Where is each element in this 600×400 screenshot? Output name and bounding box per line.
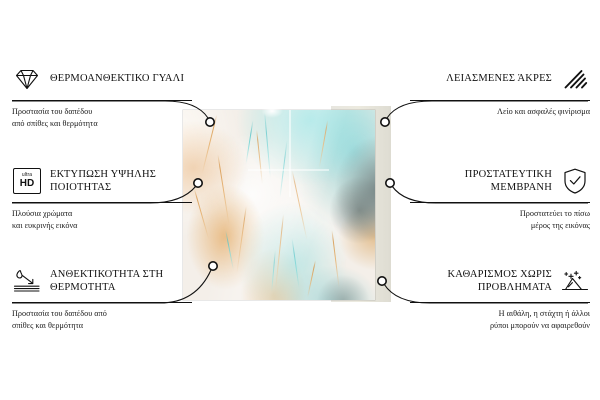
feature-divider (410, 100, 590, 101)
product-glass-panel (183, 110, 375, 300)
feature-divider (12, 202, 192, 203)
feature-description: Προστατεύει το πίσω μέρος της εικόνας (410, 208, 590, 231)
feature-block-polished-edges: ΛΕΙΑΣΜΕΝΕΣ ΆΚΡΕΣ Λείο και ασφαλές φινίρι… (410, 62, 590, 118)
ultra-hd-badge-main-label: HD (20, 179, 34, 189)
feature-title: ΠΡΟΣΤΑΤΕΥΤΙΚΗ ΜΕΜΒΡΑΝΗ (410, 168, 552, 195)
polished-edges-icon (560, 64, 590, 94)
feature-title: ΑΝΘΕΚΤΙΚΟΤΗΤΑ ΣΤΗ ΘΕΡΜΟΤΗΤΑ (50, 268, 192, 295)
ink-layer-slate (183, 110, 375, 300)
feature-block-heat-resistant-glass: ΘΕΡΜΟΑΝΘΕΚΤΙΚΟ ΓΥΑΛΙ Προστασία του δαπέδ… (12, 62, 192, 129)
heat-resistance-icon (12, 266, 42, 296)
feature-block-protective-membrane: ΠΡΟΣΤΑΤΕΥΤΙΚΗ ΜΕΜΒΡΑΝΗ Προστατεύει το πί… (410, 164, 590, 231)
feature-header: ΠΡΟΣΤΑΤΕΥΤΙΚΗ ΜΕΜΒΡΑΝΗ (410, 164, 590, 198)
feature-block-high-quality-print: ultra HD ΕΚΤΥΠΩΣΗ ΥΨΗΛΗΣ ΠΟΙΟΤΗΤΑΣ Πλούσ… (12, 164, 192, 231)
feature-description: Προστασία του δαπέδου από σπίθες και θερ… (12, 106, 192, 129)
feature-description: Προστασία του δαπέδου από σπίθες και θερ… (12, 308, 192, 331)
feature-header: ultra HD ΕΚΤΥΠΩΣΗ ΥΨΗΛΗΣ ΠΟΙΟΤΗΤΑΣ (12, 164, 192, 198)
feature-header: ΛΕΙΑΣΜΕΝΕΣ ΆΚΡΕΣ (410, 62, 590, 96)
feature-description: Η αιθάλη, η στάχτη ή άλλοι ρύποι μπορούν… (410, 308, 590, 331)
feature-header: ΘΕΡΜΟΑΝΘΕΚΤΙΚΟ ΓΥΑΛΙ (12, 62, 192, 96)
ultra-hd-badge-icon: ultra HD (12, 166, 42, 196)
feature-divider (410, 202, 590, 203)
shield-check-icon (560, 166, 590, 196)
infographic-root: ΘΕΡΜΟΑΝΘΕΚΤΙΚΟ ΓΥΑΛΙ Προστασία του δαπέδ… (0, 0, 600, 400)
feature-divider (12, 302, 192, 303)
feature-block-heat-durability: ΑΝΘΕΚΤΙΚΟΤΗΤΑ ΣΤΗ ΘΕΡΜΟΤΗΤΑ Προστασία το… (12, 264, 192, 331)
feature-divider (12, 100, 192, 101)
diamond-icon (12, 64, 42, 94)
easy-clean-icon (560, 266, 590, 296)
feature-description: Πλούσια χρώματα και ευκρινής εικόνα (12, 208, 192, 231)
product-image (183, 110, 383, 300)
feature-block-easy-cleaning: ΚΑΘΑΡΙΣΜΟΣ ΧΩΡΙΣ ΠΡΟΒΛΗΜΑΤΑ Η αιθάλη, η … (410, 264, 590, 331)
feature-description: Λείο και ασφαλές φινίρισμα (410, 106, 590, 118)
feature-header: ΚΑΘΑΡΙΣΜΟΣ ΧΩΡΙΣ ΠΡΟΒΛΗΜΑΤΑ (410, 264, 590, 298)
feature-title: ΛΕΙΑΣΜΕΝΕΣ ΆΚΡΕΣ (446, 72, 552, 85)
feature-header: ΑΝΘΕΚΤΙΚΟΤΗΤΑ ΣΤΗ ΘΕΡΜΟΤΗΤΑ (12, 264, 192, 298)
feature-title: ΚΑΘΑΡΙΣΜΟΣ ΧΩΡΙΣ ΠΡΟΒΛΗΜΑΤΑ (410, 268, 552, 295)
feature-divider (410, 302, 590, 303)
feature-title: ΕΚΤΥΠΩΣΗ ΥΨΗΛΗΣ ΠΟΙΟΤΗΤΑΣ (50, 168, 192, 195)
feature-title: ΘΕΡΜΟΑΝΘΕΚΤΙΚΟ ΓΥΑΛΙ (50, 72, 184, 85)
